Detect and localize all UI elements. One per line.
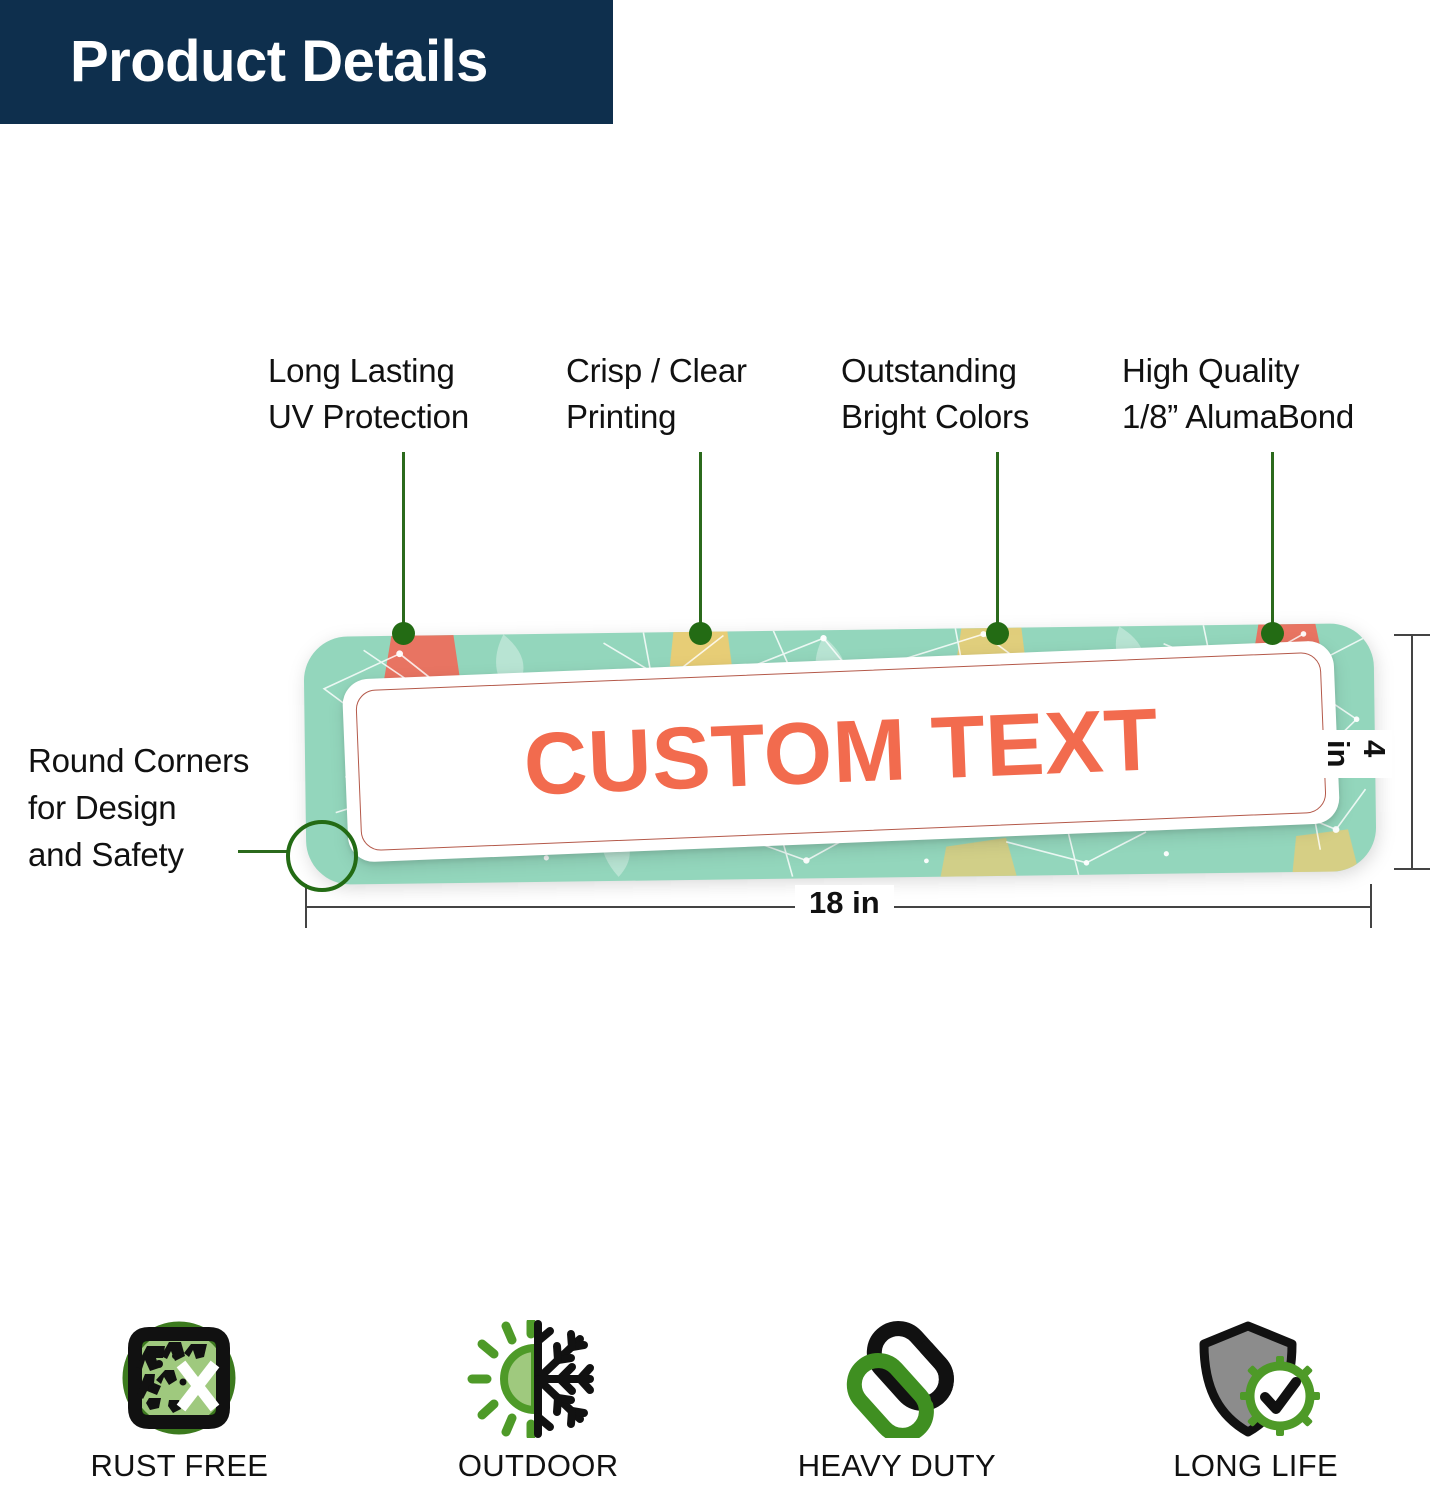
round-corner-leader-line bbox=[238, 850, 290, 853]
leader-dot-1 bbox=[392, 622, 415, 645]
leader-dot-2 bbox=[689, 622, 712, 645]
leader-line-4 bbox=[1271, 452, 1274, 634]
feature-badges: RUST FREE bbox=[0, 1320, 1435, 1500]
dim-height-line bbox=[1411, 634, 1413, 869]
infographic-root: Product Details Long Lasting UV Protecti… bbox=[0, 0, 1435, 1500]
leader-line-1 bbox=[402, 452, 405, 634]
dim-height-label: 4 in bbox=[1320, 730, 1392, 778]
feature-label-outdoor: OUTDOOR bbox=[458, 1448, 619, 1484]
feature-label-rust-free: RUST FREE bbox=[90, 1448, 268, 1484]
header-banner: Product Details bbox=[0, 0, 613, 124]
leader-line-2 bbox=[699, 452, 702, 634]
round-corner-highlight-ring bbox=[286, 820, 358, 892]
feature-long-life: LONG LIFE bbox=[1076, 1320, 1435, 1484]
leader-dot-4 bbox=[1261, 622, 1284, 645]
leader-line-3 bbox=[996, 452, 999, 634]
callout-label-high-quality-alumabond: High Quality 1/8” AlumaBond bbox=[1122, 348, 1354, 440]
feature-heavy-duty: HEAVY DUTY bbox=[718, 1320, 1077, 1484]
sun-snowflake-icon bbox=[467, 1320, 609, 1438]
rust-free-icon bbox=[105, 1320, 253, 1438]
dim-width-label: 18 in bbox=[795, 885, 894, 921]
callout-label-outstanding-bright-colors: Outstanding Bright Colors bbox=[841, 348, 1029, 440]
callout-label-long-lasting-uv-protection: Long Lasting UV Protection bbox=[268, 348, 469, 440]
product-sign: CUSTOM TEXT bbox=[300, 618, 1385, 893]
feature-label-long-life: LONG LIFE bbox=[1173, 1448, 1338, 1484]
feature-label-heavy-duty: HEAVY DUTY bbox=[798, 1448, 996, 1484]
callout-label-round-corners: Round Corners for Design and Safety bbox=[28, 738, 249, 879]
page-title: Product Details bbox=[70, 33, 488, 91]
callout-label-crisp-clear-printing: Crisp / Clear Printing bbox=[566, 348, 747, 440]
sign-custom-text: CUSTOM TEXT bbox=[522, 695, 1160, 808]
feature-rust-free: RUST FREE bbox=[0, 1320, 359, 1484]
shield-clock-icon bbox=[1186, 1320, 1326, 1438]
leader-dot-3 bbox=[986, 622, 1009, 645]
chain-link-icon bbox=[827, 1320, 967, 1438]
sign-plate: CUSTOM TEXT bbox=[303, 623, 1376, 885]
feature-outdoor: OUTDOOR bbox=[359, 1320, 718, 1484]
